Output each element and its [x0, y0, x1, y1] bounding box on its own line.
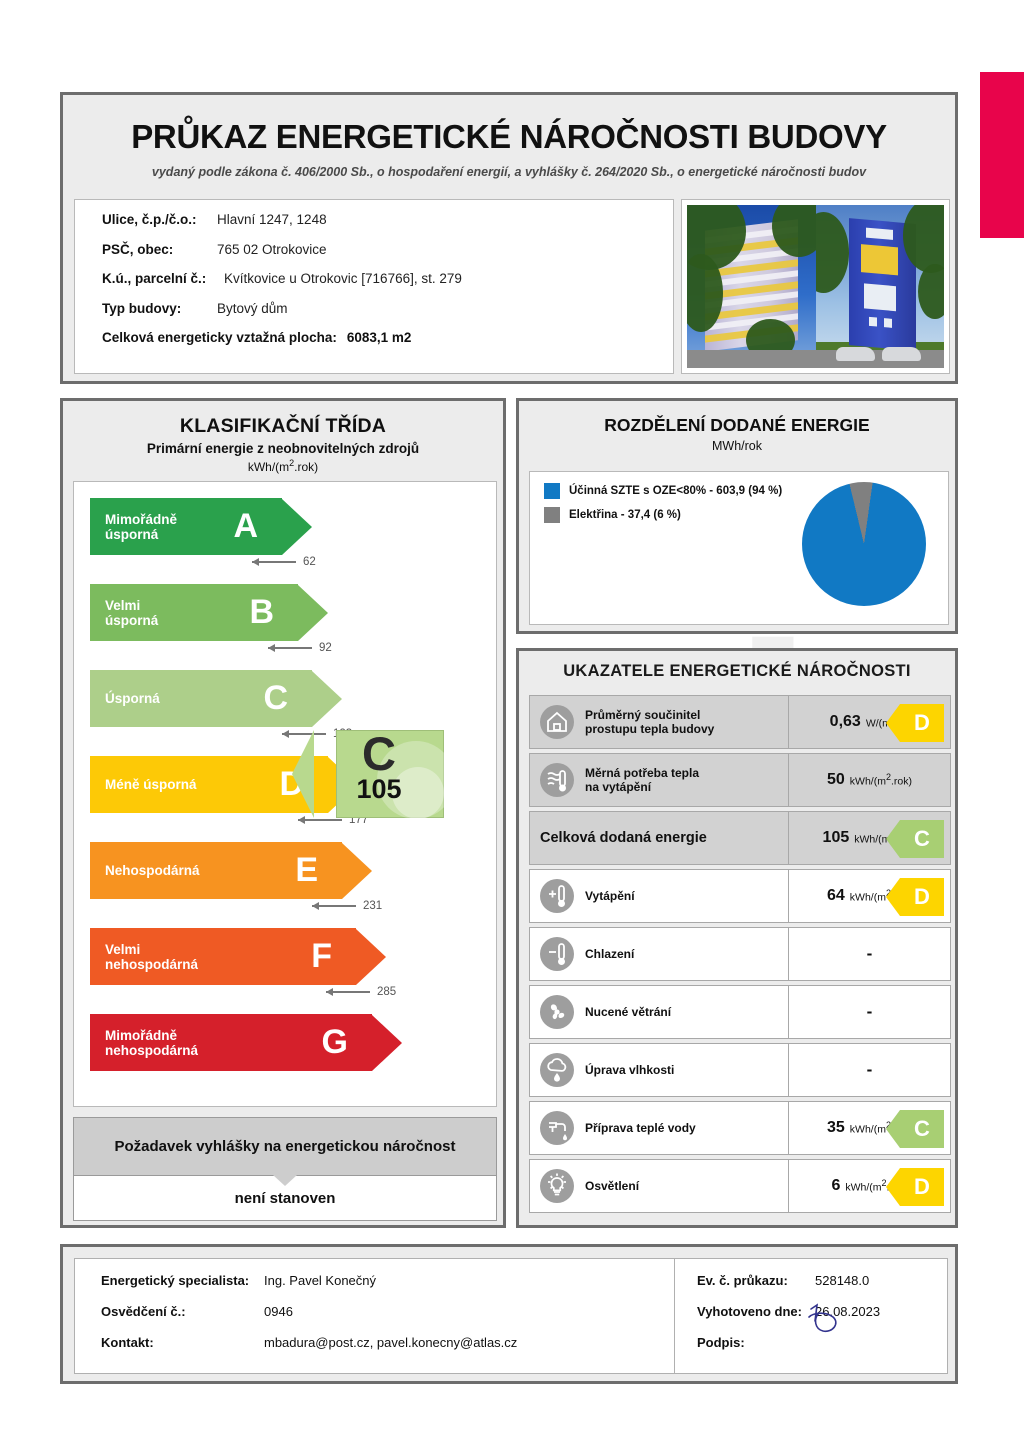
indicator-label: Chlazení: [585, 947, 634, 961]
humidity-icon: [540, 1053, 574, 1087]
value-street: Hlavní 1247, 1248: [217, 212, 327, 227]
indicator-class-badge: C: [900, 820, 944, 858]
band-letter-A: A: [233, 507, 258, 546]
indicator-class-badge: C: [900, 1110, 944, 1148]
page-title: PRŮKAZ ENERGETICKÉ NÁROČNOSTI BUDOVY: [63, 95, 955, 156]
info-row-zip: PSČ, obec: 765 02 Otrokovice: [102, 242, 673, 257]
page-subtitle: vydaný podle zákona č. 406/2000 Sb., o h…: [63, 156, 955, 179]
band-label-C: Úsporná: [105, 691, 160, 706]
label-signature: Podpis:: [697, 1335, 815, 1350]
classification-unit: kWh/(m2.rok): [63, 458, 503, 474]
legend-label-1: Elektřina - 37,4 (6 %): [569, 509, 681, 521]
footer-box: Energetický specialista: Ing. Pavel Kone…: [74, 1258, 948, 1374]
indicators-title: UKAZATELE ENERGETICKÉ NÁROČNOSTI: [519, 651, 955, 681]
info-row-buildingtype: Typ budovy: Bytový dům: [102, 301, 673, 316]
header-panel: PRŮKAZ ENERGETICKÉ NÁROČNOSTI BUDOVY vyd…: [60, 92, 958, 384]
classification-subtitle: Primární energie z neobnovitelných zdroj…: [63, 441, 503, 456]
value-specialist: Ing. Pavel Konečný: [264, 1273, 376, 1288]
building-photo-left: [687, 205, 816, 368]
band-threshold-A: 62: [252, 556, 316, 568]
indicator-label: Osvětlení: [585, 1179, 639, 1193]
indicator-value: 105: [823, 829, 850, 847]
legend-swatch-0: [544, 483, 560, 499]
indicator-row: Měrná potřeba tepla na vytápění50kWh/(m2…: [529, 753, 951, 807]
red-corner-mark: [980, 72, 1024, 238]
building-photo-box: [681, 199, 950, 374]
energy-band-C: ÚspornáC: [90, 670, 342, 727]
indicator-row: Úprava vlhkosti-: [529, 1043, 951, 1097]
result-badge: C 105: [314, 730, 444, 818]
legend-item-1: Elektřina - 37,4 (6 %): [544, 507, 782, 523]
indicator-label: Úprava vlhkosti: [585, 1063, 674, 1077]
band-threshold-E: 231: [312, 900, 382, 912]
band-letter-E: E: [295, 851, 318, 890]
indicator-row: Nucené větrání-: [529, 985, 951, 1039]
requirement-box: Požadavek vyhlášky na energetickou nároč…: [73, 1117, 497, 1221]
indicator-value: -: [867, 944, 873, 964]
value-buildingtype: Bytový dům: [217, 301, 288, 316]
pie-legend: Účinná SZTE s OZE<80% - 603,9 (94 %) Ele…: [544, 483, 782, 531]
indicator-value: 50: [827, 771, 845, 789]
value-contact: mbadura@post.cz, pavel.konecny@atlas.cz: [264, 1335, 517, 1350]
legend-swatch-1: [544, 507, 560, 523]
value-zip: 765 02 Otrokovice: [217, 242, 327, 257]
label-zip: PSČ, obec:: [102, 242, 217, 257]
label-issue-date: Vyhotoveno dne:: [697, 1304, 815, 1319]
info-row-area: Celková energeticky vztažná plocha: 6083…: [102, 330, 673, 345]
fan-icon: [540, 995, 574, 1029]
footer-right: Ev. č. průkazu: 528148.0 Vyhotoveno dne:…: [675, 1259, 947, 1373]
band-letter-C: C: [263, 679, 288, 718]
indicator-value: -: [867, 1060, 873, 1080]
label-certificate-no: Osvědčení č.:: [101, 1304, 264, 1319]
result-value: 105: [314, 774, 444, 805]
certificate-sheet: PRŮKAZ ENERGETICKÉ NÁROČNOSTI BUDOVY vyd…: [60, 92, 958, 1384]
legend-label-0: Účinná SZTE s OZE<80% - 603,9 (94 %): [569, 485, 782, 497]
band-label-D: Méně úsporná: [105, 777, 197, 792]
result-class-letter: C: [314, 726, 444, 781]
unit-prefix: kWh/(m: [248, 460, 289, 474]
indicator-value: 6: [831, 1177, 840, 1195]
label-area: Celková energeticky vztažná plocha:: [102, 330, 337, 345]
pie-chart-area: Účinná SZTE s OZE<80% - 603,9 (94 %) Ele…: [529, 471, 949, 625]
signature-mark: [803, 1303, 873, 1355]
value-area-superscript: 2: [404, 330, 412, 345]
energy-band-B: Velmi úspornáB: [90, 584, 328, 641]
unit-suffix: .rok): [294, 460, 318, 474]
indicator-label: Vytápění: [585, 889, 635, 903]
band-label-E: Nehospodárná: [105, 863, 200, 878]
value-area: 6083,1 m: [347, 330, 404, 345]
classification-panel: KLASIFIKAČNÍ TŘÍDA Primární energie z ne…: [60, 398, 506, 1228]
label-evidence-no: Ev. č. průkazu:: [697, 1273, 815, 1288]
indicator-row: Chlazení-: [529, 927, 951, 981]
label-cadastre: K.ú., parcelní č.:: [102, 271, 224, 286]
indicator-row: Příprava teplé vody35kWh/(m2.rok)C: [529, 1101, 951, 1155]
indicator-class-badge: D: [900, 878, 944, 916]
pie-title: ROZDĚLENÍ DODANÉ ENERGIE: [519, 401, 955, 436]
indicator-value: 35: [827, 1119, 845, 1137]
band-label-A: Mimořádně úsporná: [105, 512, 177, 542]
energy-band-E: NehospodárnáE: [90, 842, 372, 899]
indicator-row: Celková dodaná energie105kWh/(m2.rok)C: [529, 811, 951, 865]
footer-row-certificate-no: Osvědčení č.: 0946: [101, 1304, 674, 1319]
energy-distribution-panel: ROZDĚLENÍ DODANÉ ENERGIE MWh/rok Účinná …: [516, 398, 958, 634]
indicator-unit: kWh/(m2.rok): [850, 772, 912, 788]
requirement-title: Požadavek vyhlášky na energetickou nároč…: [74, 1118, 496, 1176]
indicator-row: Osvětlení6kWh/(m2.rok)D: [529, 1159, 951, 1213]
energy-band-F: Velmi nehospodárnáF: [90, 928, 386, 985]
footer-row-specialist: Energetický specialista: Ing. Pavel Kone…: [101, 1273, 674, 1288]
value-cadastre: Kvítkovice u Otrokovic [716766], st. 279: [224, 271, 462, 286]
footer-panel: Energetický specialista: Ing. Pavel Kone…: [60, 1244, 958, 1384]
value-evidence-no: 528148.0: [815, 1273, 869, 1288]
faucet-icon: [540, 1111, 574, 1145]
band-label-F: Velmi nehospodárná: [105, 942, 198, 972]
footer-row-evidence-no: Ev. č. průkazu: 528148.0: [697, 1273, 947, 1288]
pie-subtitle: MWh/rok: [519, 436, 955, 453]
classification-title: KLASIFIKAČNÍ TŘÍDA: [63, 415, 503, 438]
lightbulb-icon: [540, 1169, 574, 1203]
pie-chart: [802, 482, 926, 606]
label-street: Ulice, č.p./č.o.:: [102, 212, 217, 227]
label-buildingtype: Typ budovy:: [102, 301, 217, 316]
indicators-list: Průměrný součinitel prostupu tepla budov…: [529, 695, 951, 1217]
indicators-panel: UKAZATELE ENERGETICKÉ NÁROČNOSTI Průměrn…: [516, 648, 958, 1228]
legend-item-0: Účinná SZTE s OZE<80% - 603,9 (94 %): [544, 483, 782, 499]
indicator-value: 0,63: [830, 713, 861, 731]
indicator-label: Celková dodaná energie: [540, 831, 707, 845]
indicator-value: 64: [827, 887, 845, 905]
info-row-street: Ulice, č.p./č.o.: Hlavní 1247, 1248: [102, 212, 673, 227]
indicator-class-badge: D: [900, 704, 944, 742]
band-threshold-B: 92: [268, 642, 332, 654]
indicator-label: Měrná potřeba tepla na vytápění: [585, 766, 699, 794]
indicator-value: -: [867, 1002, 873, 1022]
footer-row-contact: Kontakt: mbadura@post.cz, pavel.konecny@…: [101, 1335, 674, 1350]
band-threshold-F: 285: [326, 986, 396, 998]
band-label-B: Velmi úsporná: [105, 598, 158, 628]
value-certificate-no: 0946: [264, 1304, 293, 1319]
footer-left: Energetický specialista: Ing. Pavel Kone…: [75, 1259, 675, 1373]
thermometer-plus-icon: [540, 879, 574, 913]
indicator-label: Příprava teplé vody: [585, 1121, 696, 1135]
building-info-box: Ulice, č.p./č.o.: Hlavní 1247, 1248 PSČ,…: [74, 199, 674, 374]
label-contact: Kontakt:: [101, 1335, 264, 1350]
heat-radiator-icon: [540, 763, 574, 797]
band-letter-F: F: [311, 937, 332, 976]
energy-band-G: Mimořádně nehospodárnáG: [90, 1014, 402, 1071]
band-letter-G: G: [322, 1023, 348, 1062]
building-photo-right: [816, 205, 945, 368]
indicator-label: Nucené větrání: [585, 1005, 671, 1019]
indicator-class-badge: D: [900, 1168, 944, 1206]
label-specialist: Energetický specialista:: [101, 1273, 264, 1288]
building-photo: [687, 205, 944, 368]
info-row-cadastre: K.ú., parcelní č.: Kvítkovice u Otrokovi…: [102, 271, 673, 286]
indicator-row: Průměrný součinitel prostupu tepla budov…: [529, 695, 951, 749]
classification-header: KLASIFIKAČNÍ TŘÍDA Primární energie z ne…: [63, 401, 503, 474]
band-label-G: Mimořádně nehospodárná: [105, 1028, 198, 1058]
band-letter-B: B: [249, 593, 274, 632]
energy-scale: Mimořádně úspornáA62Velmi úspornáB92Úspo…: [73, 481, 497, 1107]
indicator-label: Průměrný součinitel prostupu tepla budov…: [585, 708, 714, 736]
house-icon: [540, 705, 574, 739]
thermometer-minus-icon: [540, 937, 574, 971]
energy-band-A: Mimořádně úspornáA: [90, 498, 312, 555]
indicator-row: Vytápění64kWh/(m2.rok)D: [529, 869, 951, 923]
